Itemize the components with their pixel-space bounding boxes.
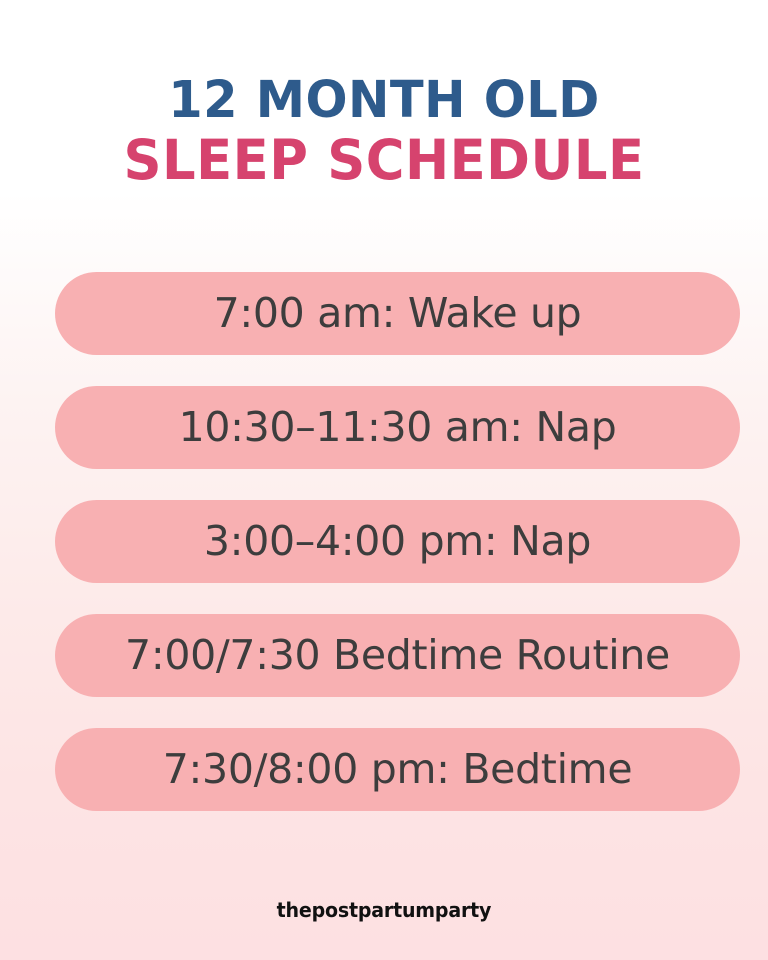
schedule-item: 10:30–11:30 am: Nap [55,386,740,469]
schedule-list: 7:00 am: Wake up 10:30–11:30 am: Nap 3:0… [55,272,740,811]
schedule-item: 3:00–4:00 pm: Nap [55,500,740,583]
schedule-item-label: 7:00/7:30 Bedtime Routine [125,635,670,676]
brand-watermark: thepostpartumparty [277,898,492,922]
page-title: 12 MONTH OLD SLEEP SCHEDULE [0,0,768,188]
schedule-item-label: 7:00 am: Wake up [214,293,582,334]
schedule-item: 7:30/8:00 pm: Bedtime [55,728,740,811]
schedule-item: 7:00 am: Wake up [55,272,740,355]
schedule-item-label: 7:30/8:00 pm: Bedtime [163,749,633,790]
schedule-item-label: 10:30–11:30 am: Nap [179,407,617,448]
schedule-item: 7:00/7:30 Bedtime Routine [55,614,740,697]
title-line-topic: SLEEP SCHEDULE [15,134,752,187]
footer: thepostpartumparty [0,898,768,922]
sleep-schedule-infographic: 12 MONTH OLD SLEEP SCHEDULE 7:00 am: Wak… [0,0,768,960]
schedule-item-label: 3:00–4:00 pm: Nap [204,521,591,562]
title-line-age: 12 MONTH OLD [12,76,757,125]
